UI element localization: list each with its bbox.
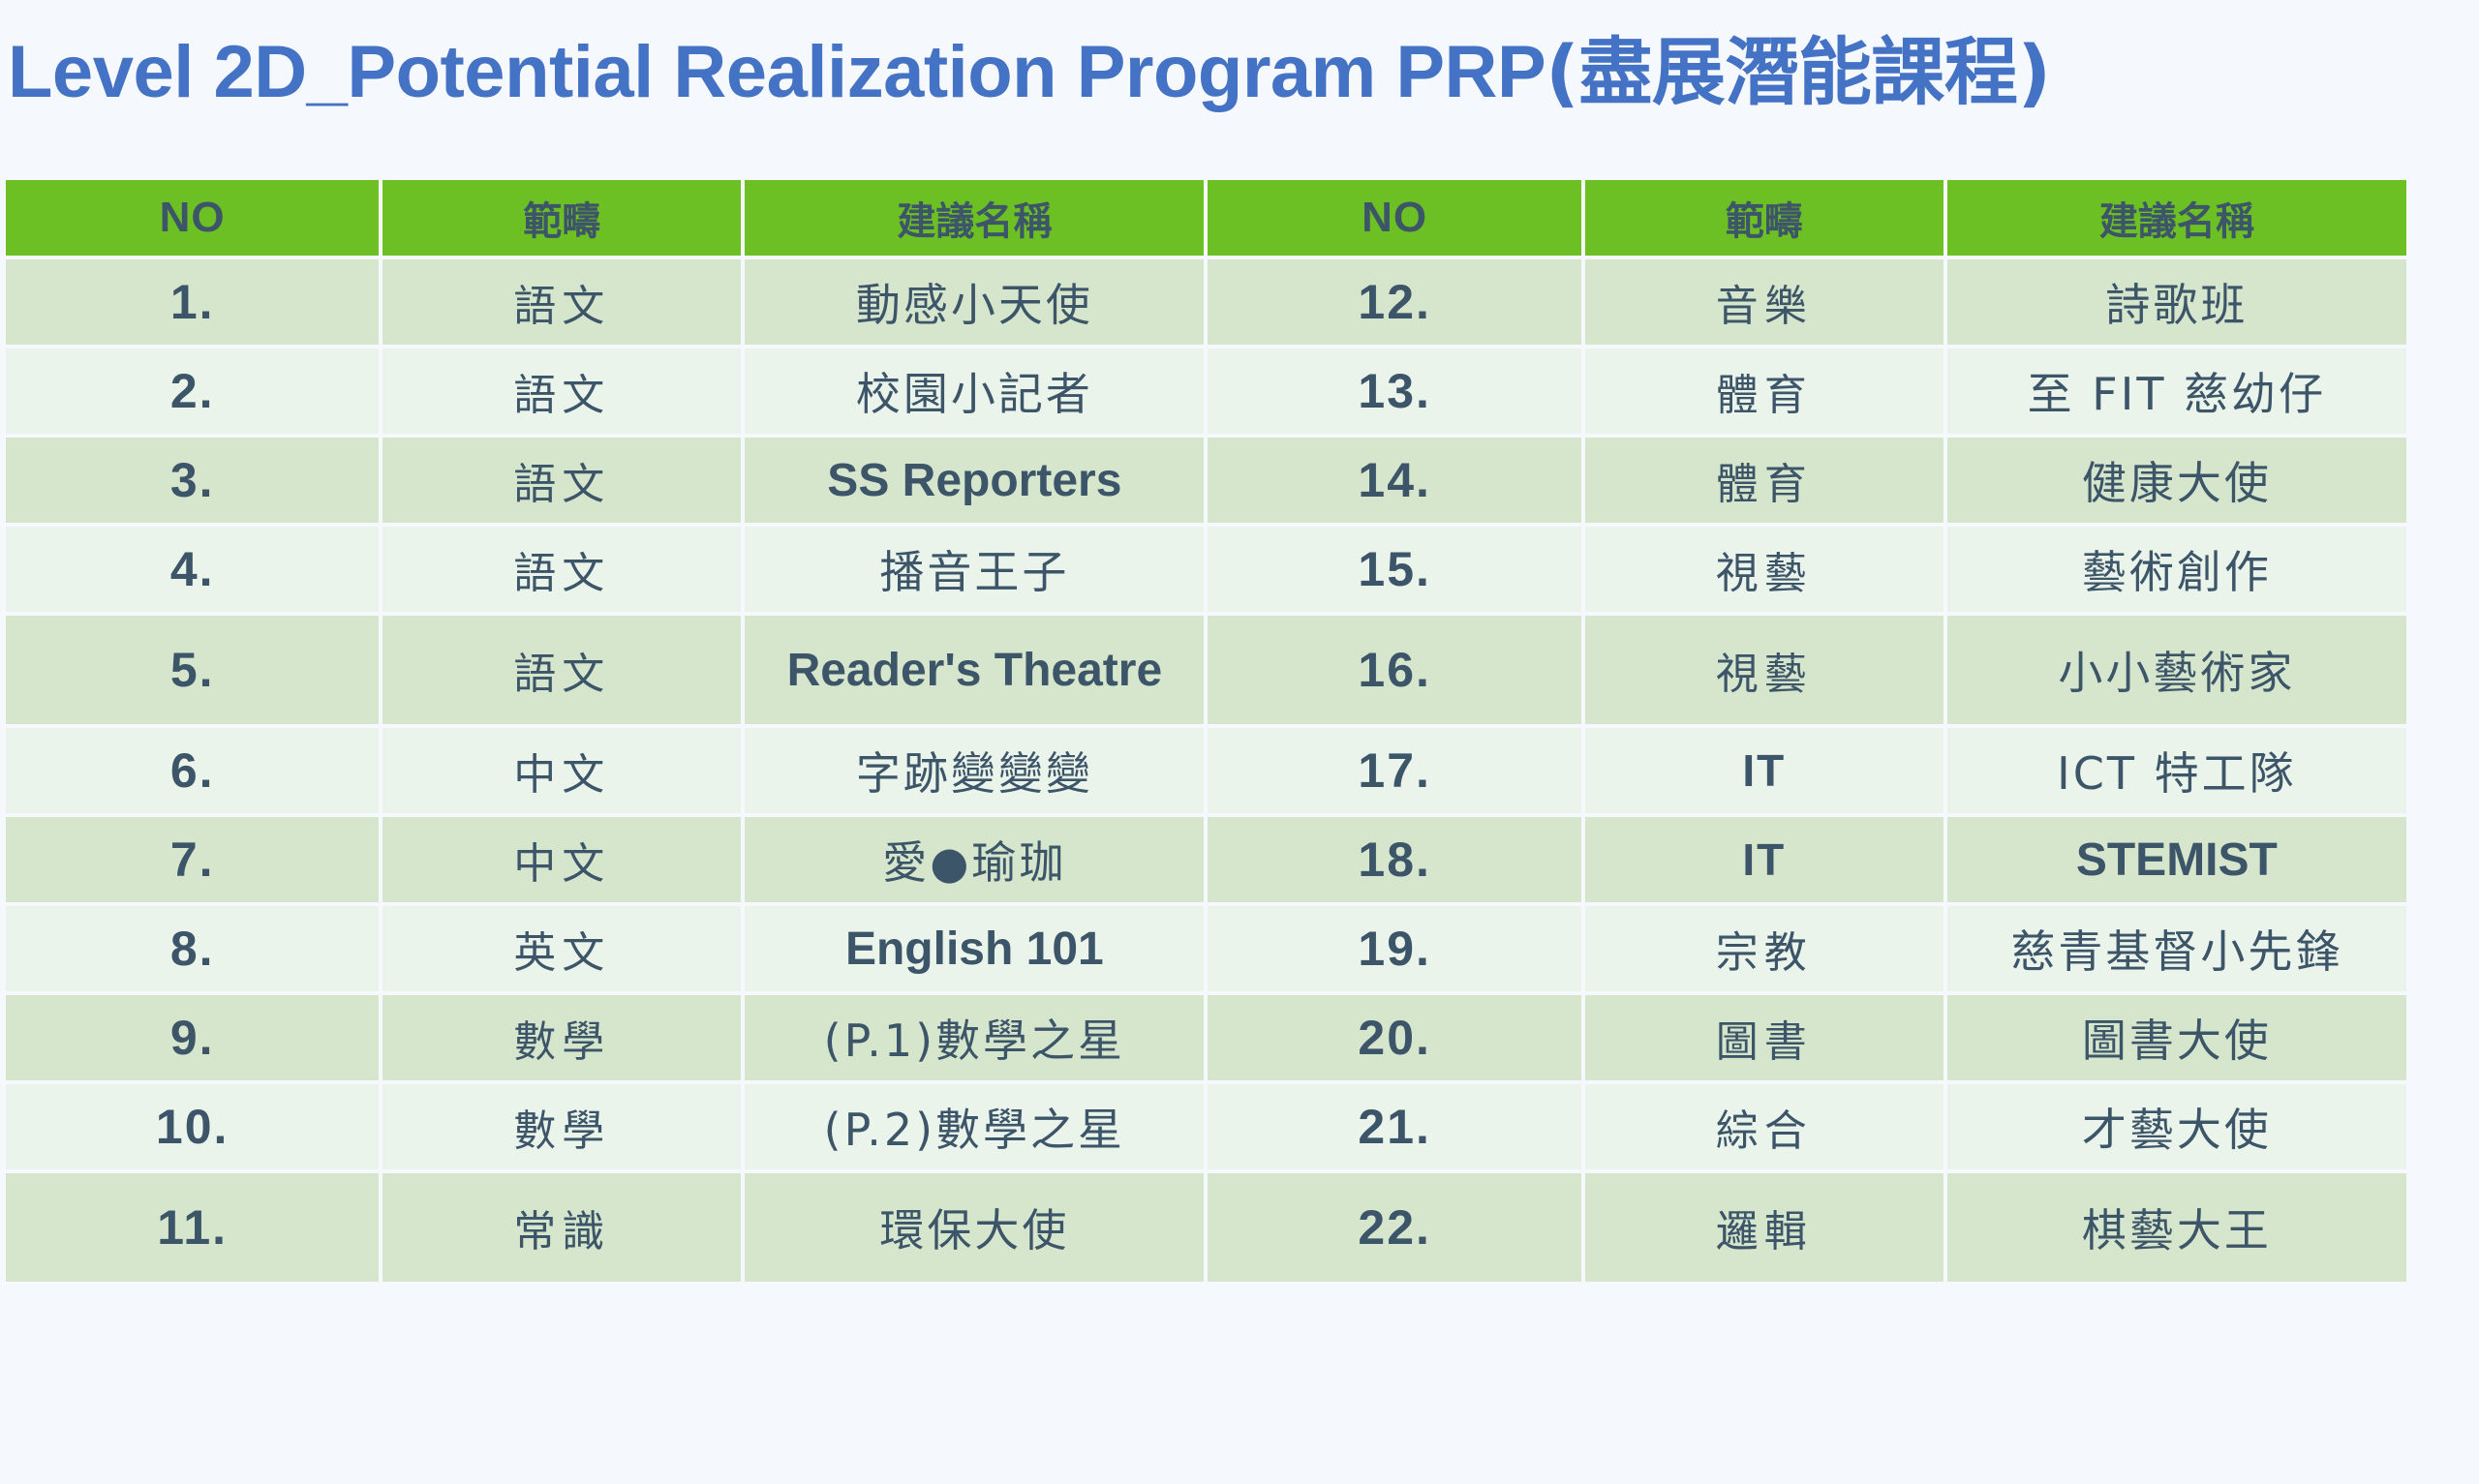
column-header-no-right: NO xyxy=(1208,180,1580,256)
cell-name-right: 慈青基督小先鋒 xyxy=(1947,906,2406,991)
cell-no-left: 9. xyxy=(6,995,379,1080)
table-row: 6.中文字跡變變變17.ITICT 特工隊 xyxy=(6,728,2406,813)
table-header: NO 範疇 建議名稱 NO 範疇 建議名稱 xyxy=(6,180,2406,256)
cell-no-right: 13. xyxy=(1208,348,1580,434)
cell-name-left: English 101 xyxy=(745,906,1204,991)
cell-name-left: 環保大使 xyxy=(745,1173,1204,1282)
cell-category-right: 音樂 xyxy=(1585,259,1943,345)
cell-name-right: 才藝大使 xyxy=(1947,1084,2406,1169)
cell-no-right: 12. xyxy=(1208,259,1580,345)
cell-name-left: 字跡變變變 xyxy=(745,728,1204,813)
cell-name-left: SS Reporters xyxy=(745,438,1204,523)
cell-no-right: 19. xyxy=(1208,906,1580,991)
column-header-name-right: 建議名稱 xyxy=(1947,180,2406,256)
cell-category-right: 圖書 xyxy=(1585,995,1943,1080)
cell-no-left: 3. xyxy=(6,438,379,523)
cell-category-left: 中文 xyxy=(383,817,741,902)
cell-category-left: 常識 xyxy=(383,1173,741,1282)
cell-name-left: (P.1)數學之星 xyxy=(745,995,1204,1080)
table-row: 4.語文播音王子15.視藝藝術創作 xyxy=(6,527,2406,612)
cell-name-right: 詩歌班 xyxy=(1947,259,2406,345)
column-header-cat-right: 範疇 xyxy=(1585,180,1943,256)
cell-category-right: 宗教 xyxy=(1585,906,1943,991)
cell-no-left: 7. xyxy=(6,817,379,902)
cell-no-right: 21. xyxy=(1208,1084,1580,1169)
cell-no-right: 18. xyxy=(1208,817,1580,902)
prp-table-container: NO 範疇 建議名稱 NO 範疇 建議名稱 1.語文動感小天使12.音樂詩歌班2… xyxy=(6,180,2414,1417)
cell-no-left: 2. xyxy=(6,348,379,434)
cell-no-right: 16. xyxy=(1208,616,1580,724)
table-body: 1.語文動感小天使12.音樂詩歌班2.語文校園小記者13.體育至 FIT 慈幼仔… xyxy=(6,259,2406,1282)
table-row: 1.語文動感小天使12.音樂詩歌班 xyxy=(6,259,2406,345)
cell-name-left: Reader's Theatre xyxy=(745,616,1204,724)
cell-no-left: 4. xyxy=(6,527,379,612)
table-row: 3.語文SS Reporters14.體育健康大使 xyxy=(6,438,2406,523)
cell-category-right: 體育 xyxy=(1585,438,1943,523)
cell-name-right: 至 FIT 慈幼仔 xyxy=(1947,348,2406,434)
cell-category-right: 視藝 xyxy=(1585,527,1943,612)
cell-no-left: 10. xyxy=(6,1084,379,1169)
table-row: 11.常識環保大使22.邏輯棋藝大王 xyxy=(6,1173,2406,1282)
cell-category-left: 語文 xyxy=(383,527,741,612)
cell-category-right: IT xyxy=(1585,817,1943,902)
cell-no-left: 11. xyxy=(6,1173,379,1282)
cell-name-right: 棋藝大王 xyxy=(1947,1173,2406,1282)
cell-name-right: 小小藝術家 xyxy=(1947,616,2406,724)
cell-category-left: 中文 xyxy=(383,728,741,813)
cell-category-right: 視藝 xyxy=(1585,616,1943,724)
cell-category-right: 體育 xyxy=(1585,348,1943,434)
cell-name-left: (P.2)數學之星 xyxy=(745,1084,1204,1169)
cell-category-left: 語文 xyxy=(383,259,741,345)
cell-name-left: 播音王子 xyxy=(745,527,1204,612)
column-header-name-left: 建議名稱 xyxy=(745,180,1204,256)
prp-table: NO 範疇 建議名稱 NO 範疇 建議名稱 1.語文動感小天使12.音樂詩歌班2… xyxy=(2,176,2410,1286)
cell-category-right: IT xyxy=(1585,728,1943,813)
cell-no-left: 8. xyxy=(6,906,379,991)
cell-category-left: 語文 xyxy=(383,616,741,724)
cell-category-left: 語文 xyxy=(383,438,741,523)
cell-category-left: 數學 xyxy=(383,995,741,1080)
cell-no-right: 22. xyxy=(1208,1173,1580,1282)
page-title-latin: Level 2D_Potential Realization Program P… xyxy=(8,36,1546,109)
column-header-cat-left: 範疇 xyxy=(383,180,741,256)
cell-no-left: 5. xyxy=(6,616,379,724)
cell-name-left: 校園小記者 xyxy=(745,348,1204,434)
cell-name-right: 圖書大使 xyxy=(1947,995,2406,1080)
table-row: 8.英文English 10119.宗教慈青基督小先鋒 xyxy=(6,906,2406,991)
cell-no-right: 20. xyxy=(1208,995,1580,1080)
cell-name-right: 健康大使 xyxy=(1947,438,2406,523)
cell-name-left: 動感小天使 xyxy=(745,259,1204,345)
cell-no-right: 14. xyxy=(1208,438,1580,523)
cell-category-right: 邏輯 xyxy=(1585,1173,1943,1282)
cell-category-left: 英文 xyxy=(383,906,741,991)
page-title: Level 2D_Potential Realization Program P… xyxy=(8,19,2467,126)
table-row: 2.語文校園小記者13.體育至 FIT 慈幼仔 xyxy=(6,348,2406,434)
page-title-cjk: (盡展潛能課程) xyxy=(1546,36,2050,109)
cell-no-right: 15. xyxy=(1208,527,1580,612)
cell-name-right: STEMIST xyxy=(1947,817,2406,902)
cell-no-left: 1. xyxy=(6,259,379,345)
table-row: 9.數學(P.1)數學之星20.圖書圖書大使 xyxy=(6,995,2406,1080)
table-row: 7.中文愛●瑜珈18.ITSTEMIST xyxy=(6,817,2406,902)
table-row: 10.數學(P.2)數學之星21.綜合才藝大使 xyxy=(6,1084,2406,1169)
column-header-no-left: NO xyxy=(6,180,379,256)
table-header-row: NO 範疇 建議名稱 NO 範疇 建議名稱 xyxy=(6,180,2406,256)
cell-name-right: 藝術創作 xyxy=(1947,527,2406,612)
table-row: 5.語文Reader's Theatre16.視藝小小藝術家 xyxy=(6,616,2406,724)
cell-category-right: 綜合 xyxy=(1585,1084,1943,1169)
cell-name-left: 愛●瑜珈 xyxy=(745,817,1204,902)
cell-no-left: 6. xyxy=(6,728,379,813)
cell-category-left: 語文 xyxy=(383,348,741,434)
cell-name-right: ICT 特工隊 xyxy=(1947,728,2406,813)
cell-no-right: 17. xyxy=(1208,728,1580,813)
slide-canvas: Level 2D_Potential Realization Program P… xyxy=(0,0,2479,1484)
cell-category-left: 數學 xyxy=(383,1084,741,1169)
